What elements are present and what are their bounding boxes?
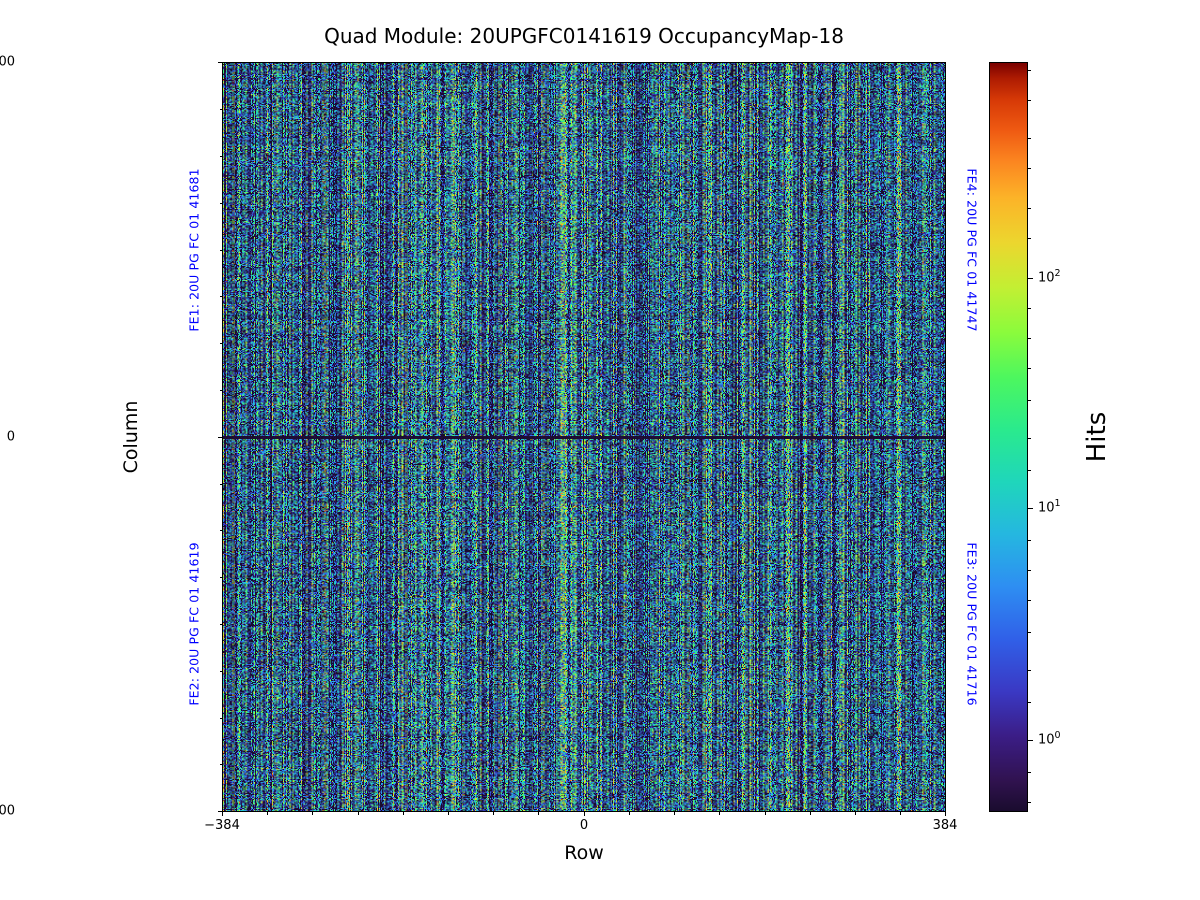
xtick-minor [312, 812, 313, 815]
annotation-fe3: FE3: 20U PG FC 01 41716 [965, 542, 980, 705]
ytick-minor [220, 390, 223, 391]
ytick-label-0: 0 [7, 430, 15, 445]
ytick-minor [220, 109, 223, 110]
colorbar-tick-minor [1028, 338, 1031, 339]
annotation-fe4: FE4: 20U PG FC 01 41747 [965, 168, 980, 331]
annotation-fe2: FE2: 20U PG FC 01 41619 [187, 542, 202, 705]
heatmap-axes [222, 62, 946, 812]
colorbar-tick-minor [1028, 400, 1031, 401]
colorbar-tick-minor [1028, 540, 1031, 541]
xtick-minor [629, 812, 630, 815]
xtick-label-0: 0 [580, 818, 588, 833]
xtick-minor [267, 812, 268, 815]
y-axis-label: Column [120, 401, 142, 474]
xtick-mark-384 [945, 812, 946, 816]
colorbar-tick-minor [1028, 100, 1031, 101]
xtick-label-384: 384 [933, 818, 958, 833]
ytick-label-n400: −400 [0, 804, 15, 819]
colorbar-tick-minor [1028, 138, 1031, 139]
colorbar-tick-minor [1028, 600, 1031, 601]
colorbar-tick-mark-1e2 [1028, 278, 1033, 279]
colorbar-tick-mark-1e1 [1028, 508, 1033, 509]
ytick-minor [220, 484, 223, 485]
colorbar [989, 62, 1028, 812]
ytick-mark-400 [218, 62, 222, 63]
ytick-minor [220, 577, 223, 578]
xtick-label-n384: −384 [204, 818, 240, 833]
colorbar-tick-minor [1028, 238, 1031, 239]
ytick-minor [220, 343, 223, 344]
xtick-mark-n384 [222, 812, 223, 816]
colorbar-tick-label-1e2: 102 [1038, 271, 1061, 286]
xtick-minor [493, 812, 494, 815]
xtick-minor [855, 812, 856, 815]
xtick-minor [674, 812, 675, 815]
colorbar-tick-mark-1e0 [1028, 740, 1033, 741]
colorbar-tick-label-1e0: 100 [1038, 733, 1061, 748]
ytick-minor [220, 624, 223, 625]
xtick-mark-0 [584, 812, 585, 816]
ytick-mark-0 [218, 437, 222, 438]
colorbar-tick-minor [1028, 308, 1031, 309]
annotation-fe1: FE1: 20U PG FC 01 41681 [187, 168, 202, 331]
colorbar-tick-minor [1028, 570, 1031, 571]
ytick-minor [220, 718, 223, 719]
colorbar-tick-minor [1028, 208, 1031, 209]
ytick-minor [220, 671, 223, 672]
ytick-label-400: 400 [0, 55, 15, 70]
xtick-minor [719, 812, 720, 815]
xtick-minor [403, 812, 404, 815]
xtick-minor [358, 812, 359, 815]
xtick-minor [900, 812, 901, 815]
ytick-minor [220, 296, 223, 297]
xtick-minor [538, 812, 539, 815]
colorbar-tick-minor [1028, 368, 1031, 369]
colorbar-tick-minor [1028, 470, 1031, 471]
ytick-minor [220, 203, 223, 204]
ytick-minor [220, 764, 223, 765]
page-title: Quad Module: 20UPGFC0141619 OccupancyMap… [222, 24, 946, 48]
colorbar-tick-minor [1028, 168, 1031, 169]
colorbar-tick-minor [1028, 632, 1031, 633]
colorbar-gradient [989, 62, 1028, 812]
colorbar-tick-minor [1028, 670, 1031, 671]
xtick-minor [448, 812, 449, 815]
ytick-minor [220, 250, 223, 251]
x-axis-label: Row [564, 842, 604, 864]
colorbar-tick-minor [1028, 438, 1031, 439]
colorbar-tick-label-1e1: 101 [1038, 501, 1061, 516]
colorbar-label: Hits [1082, 412, 1112, 463]
ytick-minor [220, 530, 223, 531]
ytick-minor [220, 156, 223, 157]
colorbar-tick-minor [1028, 802, 1031, 803]
xtick-minor [765, 812, 766, 815]
occupancy-heatmap [223, 63, 945, 811]
colorbar-tick-minor [1028, 70, 1031, 71]
colorbar-tick-minor [1028, 702, 1031, 703]
xtick-minor [810, 812, 811, 815]
colorbar-tick-minor [1028, 772, 1031, 773]
